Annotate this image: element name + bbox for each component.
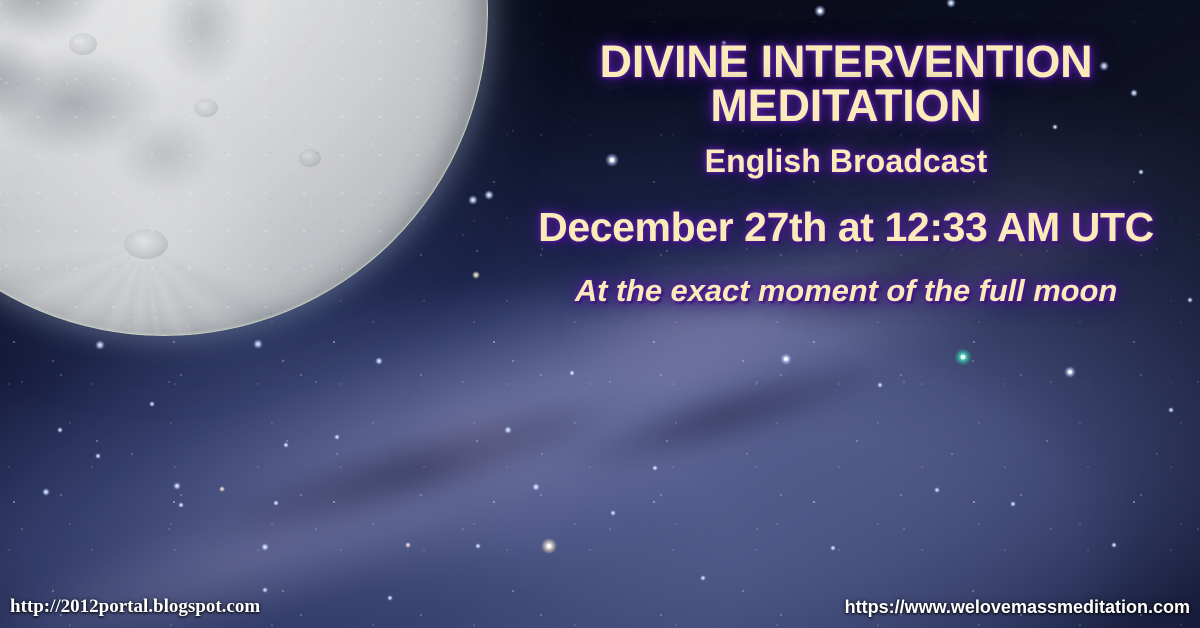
- headline-block: DIVINE INTERVENTION MEDITATION English B…: [496, 40, 1196, 309]
- event-tagline: At the exact moment of the full moon: [496, 273, 1196, 309]
- footer-link-welovemassmeditation[interactable]: https://www.welovemassmeditation.com: [845, 597, 1190, 618]
- footer-link-2012portal[interactable]: http://2012portal.blogspot.com: [10, 596, 260, 618]
- footer-bar: http://2012portal.blogspot.com https://w…: [0, 594, 1200, 620]
- page-title: DIVINE INTERVENTION MEDITATION: [496, 40, 1196, 127]
- title-line-2: MEDITATION: [496, 84, 1196, 128]
- event-datetime: December 27th at 12:33 AM UTC: [496, 204, 1196, 251]
- poster-canvas: DIVINE INTERVENTION MEDITATION English B…: [0, 0, 1200, 628]
- poster-content: DIVINE INTERVENTION MEDITATION English B…: [0, 0, 1200, 628]
- broadcast-subtitle: English Broadcast: [496, 143, 1196, 180]
